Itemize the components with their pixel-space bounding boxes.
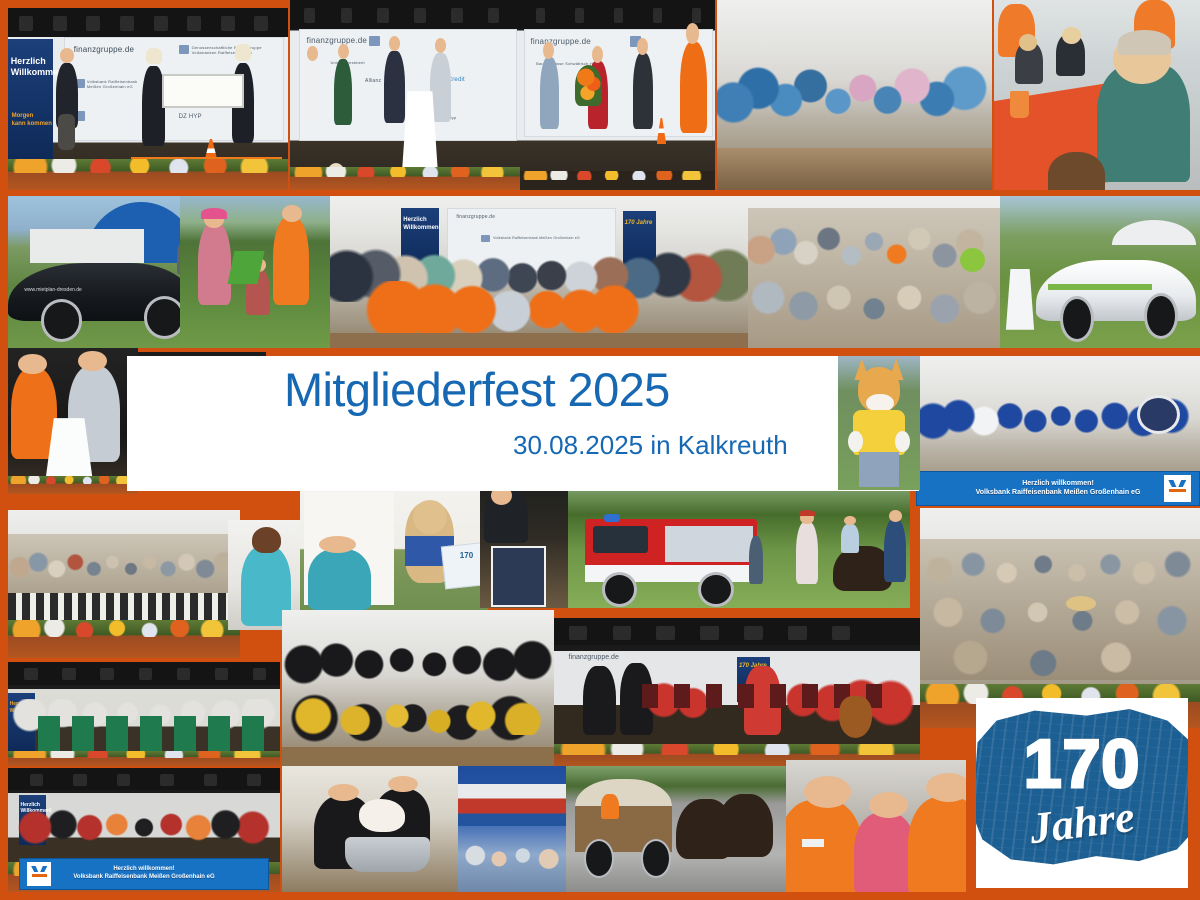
anniversary-logo: 170 Jahre xyxy=(976,698,1188,888)
photo-children-on-stage xyxy=(717,0,992,190)
vr-bank-logo xyxy=(27,862,51,886)
sponsor-url-label: finanzgruppe.de xyxy=(456,214,495,220)
photo-kids-craft-table xyxy=(994,0,1200,190)
fox-trousers xyxy=(859,452,898,487)
car-green-stripe xyxy=(1048,284,1152,290)
welcome-banner: Herzlich willkommen! Volksbank Raiffeise… xyxy=(19,858,269,890)
welcome-banner: Herzlich willkommen! Volksbank Raiffeise… xyxy=(916,471,1200,506)
person-staff-blue xyxy=(884,519,906,581)
person-speaker xyxy=(384,51,405,123)
photo-teddy-bear-giveaway: 170 xyxy=(300,490,488,612)
welcome-banner-text: Herzlich willkommen! Volksbank Raiffeise… xyxy=(976,480,1141,498)
sponsor-url-label: finanzgruppe.de xyxy=(531,37,591,46)
welcome-line-2: Volksbank Raiffeisenbank Meißen Großenha… xyxy=(73,874,214,881)
photo-orchestra-performance: finanzgruppe.de 170 Jahre xyxy=(554,618,920,768)
rollup-welcome-text: Herzlich Willkommen! xyxy=(403,217,440,232)
page-title: Mitgliederfest 2025 xyxy=(284,362,670,417)
vr-bank-logo xyxy=(1164,475,1190,501)
photo-food-counter-menu xyxy=(480,488,568,608)
photo-lawn-games-family xyxy=(180,196,330,348)
blue-light xyxy=(604,514,621,521)
person-guest xyxy=(540,57,560,129)
welcome-line-2: Volksbank Raiffeisenbank Meißen Großenha… xyxy=(976,489,1141,498)
rollup-170-text: 170 Jahre xyxy=(625,220,653,228)
candy-machine-bowl xyxy=(345,837,429,872)
photo-choir-green-banners: Herzlich Willkommen! xyxy=(8,662,280,766)
photo-staff-portrait-group xyxy=(786,760,966,892)
person-host-orange xyxy=(680,42,707,133)
person-adult-pink xyxy=(198,223,231,305)
page-subtitle: 30.08.2025 in Kalkreuth xyxy=(513,430,788,461)
children-group xyxy=(717,34,992,152)
photo-vw-golf-display xyxy=(1000,196,1200,348)
photo-cheerleaders-performance xyxy=(282,610,554,766)
green-banner-set xyxy=(38,716,269,751)
person-child-rider xyxy=(841,524,858,553)
person-staff-orange xyxy=(273,217,309,305)
photo-firefighters-stage-cheque: finanzgruppe.de Genossenschaftliche Fina… xyxy=(8,8,288,190)
rollup-future-text: Morgen kann kommen xyxy=(12,113,52,128)
menu-board xyxy=(491,546,546,608)
person-driver-orange xyxy=(601,794,619,819)
photo-fire-engine xyxy=(568,488,778,608)
drum xyxy=(1137,395,1180,434)
seated-audience xyxy=(920,539,1200,680)
sponsor-allianz-label: Allianz xyxy=(365,78,381,84)
child-being-painted xyxy=(1048,152,1106,190)
welcome-line-1: Herzlich willkommen! xyxy=(976,480,1141,489)
photo-bouncy-castle xyxy=(458,766,566,892)
photo-pony-riding xyxy=(778,488,910,608)
photo-speakers-microphone xyxy=(8,348,138,494)
cotton-candy xyxy=(359,799,405,832)
flower-bouquet xyxy=(575,65,602,107)
person-guest-pink xyxy=(854,813,915,892)
person-staff-orange xyxy=(786,800,862,892)
person-visitor xyxy=(749,536,764,584)
photo-choir-kids-stage: Herzlich Willkommen! Herzlich willkommen… xyxy=(8,768,280,892)
sponsor-url-label: finanzgruppe.de xyxy=(307,36,367,45)
bouncy-castle-wall xyxy=(458,784,566,827)
flyer-170-label: 170 xyxy=(460,551,473,560)
children-playing xyxy=(458,834,566,877)
person-staff-teal xyxy=(308,549,372,610)
sponsor-vr-label: Volksbank Raiffeisenbank Meißen Großenha… xyxy=(87,79,144,89)
fox-hand-right xyxy=(895,431,910,452)
car-decal-label: www.mietplan-dresden.de xyxy=(24,287,82,293)
green-balloon xyxy=(960,248,985,272)
photo-tent-audience-seated xyxy=(920,508,1200,728)
pompoms xyxy=(287,697,548,734)
photo-crowd-in-tent xyxy=(8,510,240,658)
person-handler xyxy=(796,522,817,584)
audience-crowd xyxy=(748,208,1000,348)
photo-group-photo-tent: finanzgruppe.de Volksbank Raiffeisenbank… xyxy=(330,196,748,348)
person-staff-orange xyxy=(908,797,966,892)
photo-stage-award-flowers: finanzgruppe.de Bausparkasse Schwäbisch … xyxy=(520,0,715,190)
welcome-line-1: Herzlich willkommen! xyxy=(73,866,214,873)
fox-hand-left xyxy=(848,431,863,452)
photo-brass-band-blue: Herzlich willkommen! Volksbank Raiffeise… xyxy=(916,356,1200,506)
children-seated-row xyxy=(8,593,240,623)
rollup-banner-welcome: Herzlich Willkommen! Morgen kann kommen xyxy=(8,39,53,159)
photo-horse-drawn-carriage xyxy=(566,766,786,892)
pen-cup xyxy=(1010,91,1029,118)
donation-cheque xyxy=(162,74,244,109)
stage-lights xyxy=(8,8,288,37)
pink-cap xyxy=(201,208,227,219)
person-guest xyxy=(334,59,352,126)
red-cap xyxy=(799,510,815,516)
kids-choir-members xyxy=(8,803,280,853)
collage-canvas: finanzgruppe.de Genossenschaftliche Fina… xyxy=(0,0,1200,900)
photo-audience-applause xyxy=(748,196,1000,348)
horse xyxy=(716,794,773,857)
photo-mascot-fox xyxy=(838,356,920,490)
name-badge xyxy=(802,839,824,847)
photo-stage-speakers-podium: finanzgruppe.de Allianz easyCredit Union… xyxy=(290,0,520,190)
youth-front-row-orange xyxy=(330,281,748,333)
fox-ear-right xyxy=(889,359,904,380)
welcome-banner-text: Herzlich willkommen! Volksbank Raiffeise… xyxy=(73,866,214,880)
person-guest xyxy=(304,61,320,126)
sponsor-url-label: finanzgruppe.de xyxy=(74,45,134,54)
person-guest xyxy=(633,53,653,129)
photo-cotton-candy-stand xyxy=(282,766,458,892)
sponsor-url-label: finanzgruppe.de xyxy=(569,654,619,661)
flower-planter xyxy=(8,159,288,190)
title-panel: Mitgliederfest 2025 30.08.2025 in Kalkre… xyxy=(127,356,919,491)
sponsor-dzhyp-label: DZ HYP xyxy=(179,114,202,120)
